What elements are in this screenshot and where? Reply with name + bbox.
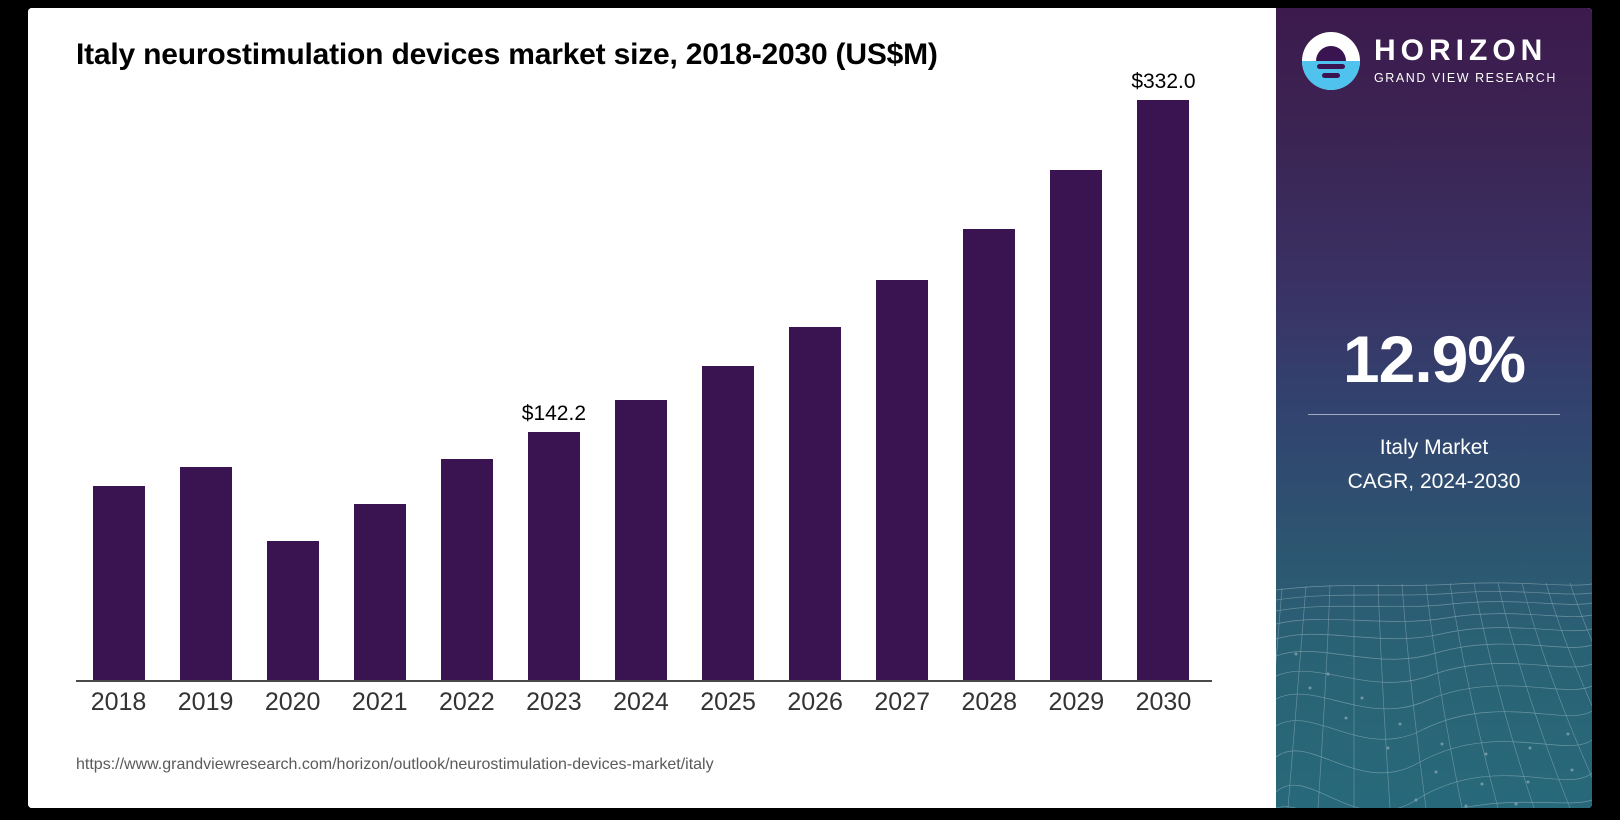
bar-2022[interactable]: [441, 459, 493, 680]
logo-bar-lower: [1322, 73, 1340, 78]
bar-2030[interactable]: [1137, 100, 1189, 680]
bar-slot-2024: [598, 100, 683, 680]
logo-sun-shape: [1316, 46, 1346, 61]
bar-slot-2030: $332.0: [1121, 100, 1206, 680]
brand-subtitle: GRAND VIEW RESEARCH: [1374, 70, 1557, 88]
chart-title: Italy neurostimulation devices market si…: [76, 38, 938, 72]
brand-wordmark: HORIZON GRAND VIEW RESEARCH: [1374, 35, 1557, 87]
brand-sidebar: HORIZON GRAND VIEW RESEARCH 12.9% Italy …: [1276, 8, 1592, 808]
bar-slot-2025: [686, 100, 771, 680]
chart-card: Italy neurostimulation devices market si…: [28, 8, 1592, 808]
x-tick-2027: 2027: [860, 688, 945, 717]
cagr-market-label: Italy Market: [1276, 431, 1592, 465]
bar-2021[interactable]: [354, 504, 406, 680]
x-tick-2028: 2028: [947, 688, 1032, 717]
bar-value-label-2023: $142.2: [522, 402, 586, 426]
bar-slot-2026: [773, 100, 858, 680]
bar-series: $142.2$332.0: [76, 100, 1206, 680]
bar-slot-2028: [947, 100, 1032, 680]
bar-2027[interactable]: [876, 280, 928, 680]
bar-2025[interactable]: [702, 366, 754, 680]
x-axis-line: [76, 680, 1212, 682]
chart-panel: Italy neurostimulation devices market si…: [28, 8, 1276, 808]
plot-area: $142.2$332.0: [76, 70, 1206, 680]
x-tick-2021: 2021: [337, 688, 422, 717]
cagr-callout: 12.9% Italy Market CAGR, 2024-2030: [1276, 326, 1592, 498]
x-tick-2029: 2029: [1034, 688, 1119, 717]
cagr-value: 12.9%: [1276, 326, 1592, 392]
bar-2028[interactable]: [963, 229, 1015, 680]
brand-logo: HORIZON GRAND VIEW RESEARCH: [1302, 32, 1557, 90]
brand-name: HORIZON: [1374, 35, 1557, 67]
bar-2018[interactable]: [93, 486, 145, 680]
bar-slot-2023: $142.2: [511, 100, 596, 680]
bar-2023[interactable]: [528, 432, 580, 680]
x-tick-2018: 2018: [76, 688, 161, 717]
x-tick-2023: 2023: [511, 688, 596, 717]
x-tick-2020: 2020: [250, 688, 335, 717]
bar-slot-2029: [1034, 100, 1119, 680]
cagr-divider: [1308, 414, 1560, 415]
x-tick-2022: 2022: [424, 688, 509, 717]
bar-2024[interactable]: [615, 400, 667, 680]
bar-slot-2021: [337, 100, 422, 680]
x-axis-tick-labels: 2018201920202021202220232024202520262027…: [76, 688, 1206, 717]
x-tick-2030: 2030: [1121, 688, 1206, 717]
x-tick-2024: 2024: [598, 688, 683, 717]
logo-bar-upper: [1317, 64, 1345, 69]
bar-slot-2020: [250, 100, 335, 680]
bar-2026[interactable]: [789, 327, 841, 680]
bar-slot-2027: [860, 100, 945, 680]
bar-2020[interactable]: [267, 541, 319, 680]
bar-2029[interactable]: [1050, 170, 1102, 680]
bar-slot-2018: [76, 100, 161, 680]
wireframe-mesh-graphic: [1276, 548, 1592, 808]
x-tick-2026: 2026: [773, 688, 858, 717]
bar-slot-2019: [163, 100, 248, 680]
source-url[interactable]: https://www.grandviewresearch.com/horizo…: [76, 756, 714, 774]
x-tick-2025: 2025: [686, 688, 771, 717]
bar-slot-2022: [424, 100, 509, 680]
x-tick-2019: 2019: [163, 688, 248, 717]
horizon-sun-icon: [1302, 32, 1360, 90]
screenshot-root: Italy neurostimulation devices market si…: [0, 0, 1620, 820]
bar-value-label-2030: $332.0: [1131, 70, 1195, 94]
cagr-period-label: CAGR, 2024-2030: [1276, 465, 1592, 499]
bar-2019[interactable]: [180, 467, 232, 680]
